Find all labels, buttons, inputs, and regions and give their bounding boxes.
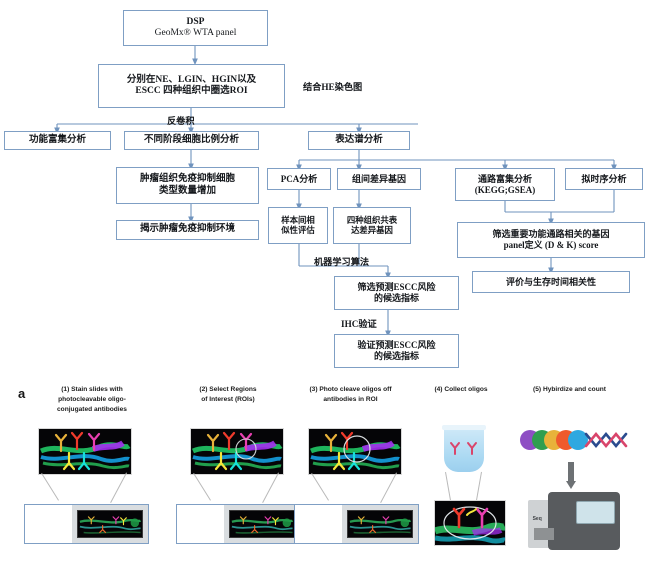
panel-letter-a: a [18, 386, 25, 401]
sequencer-label: Seq [533, 516, 542, 522]
node-pseudotime-label: 拟时序分析 [581, 174, 626, 185]
node-pathway-line2: (KEGG;GSEA) [475, 185, 536, 196]
step-5-down-arrow-icon [568, 462, 574, 482]
edge-label-he: 结合HE染色图 [303, 79, 362, 93]
step-3-leader-left [311, 473, 329, 501]
step-1-caption-line2: photocleavable oligo- [36, 395, 148, 405]
node-roi: 分别在NE、LGIN、HGIN以及 ESCC 四种组织中圈选ROI [98, 64, 285, 108]
geomx-workflow-panel: a (1) Stain slides with photocleavable o… [0, 380, 650, 567]
edge-label-ihc: IHC验证 [341, 316, 377, 330]
node-reveal-microenvironment: 揭示肿瘤免疫抑制环境 [116, 220, 259, 240]
node-screen-line1: 筛选预测ESCC风险 [357, 282, 435, 293]
node-cell-proportion: 不同阶段细胞比例分析 [124, 131, 259, 150]
step-4-leader-left [445, 472, 451, 502]
step-2-slide-tissue [229, 510, 295, 537]
node-dsp-subtitle: GeoMx® WTA panel [155, 28, 237, 39]
step-4-caption: (4) Collect oligos [421, 385, 501, 395]
step-1-caption-line1: (1) Stain slides with [36, 385, 148, 395]
step-2-tissue-image [190, 428, 284, 475]
node-pathway-line1: 通路富集分析 [478, 174, 532, 185]
tissue-fluorescence-3 [309, 429, 401, 474]
step-1-leader-right [110, 473, 127, 503]
step-5-caption-line1: (5) Hybirdize and count [512, 385, 627, 395]
node-gene-panel-line1: 筛选重要功能通路相关的基因 [492, 229, 609, 240]
node-screen-escc-risk: 筛选预测ESCC风险 的候选指标 [334, 276, 459, 310]
node-tumor-immunosuppressive-cells: 肿瘤组织免疫抑制细胞 类型数量增加 [116, 167, 259, 204]
node-sample-similarity-line1: 样本间相 [281, 216, 315, 226]
sequencer-screen [576, 501, 615, 524]
node-pathway-enrichment: 通路富集分析 (KEGG;GSEA) [455, 168, 555, 201]
node-validate-escc-risk: 验证预测ESCC风险 的候选指标 [334, 334, 459, 368]
step-2-caption-line2: of Interest (ROIs) [172, 395, 284, 405]
slide-tissue-2 [230, 511, 294, 536]
node-validate-line2: 的候选指标 [374, 351, 419, 362]
node-dsp: DSP GeoMx® WTA panel [123, 10, 268, 46]
step-2-slide [176, 504, 301, 544]
step-1-caption: (1) Stain slides with photocleavable oli… [36, 385, 148, 416]
node-degs: 组间差异基因 [337, 168, 421, 190]
step-4-roi-closeup [434, 500, 506, 546]
sequencer-slot [534, 528, 554, 540]
step-2-caption-line1: (2) Select Regions [172, 385, 284, 395]
step-3-caption: (3) Photo cleave oligos off antibodies i… [288, 385, 413, 405]
slide-tissue-3 [348, 511, 412, 536]
node-sample-similarity: 样本间相 似性评估 [268, 207, 328, 244]
node-gene-panel-definition: 筛选重要功能通路相关的基因 panel定义 (D & K) score [457, 222, 645, 258]
tissue-fluorescence-1 [39, 429, 131, 474]
node-tumor-line1: 肿瘤组织免疫抑制细胞 [140, 174, 235, 185]
node-co-expressed-line1: 四种组织共表 [347, 216, 397, 226]
step-2-leader-right [262, 473, 279, 503]
step-2-leader-left [193, 473, 211, 501]
node-validate-line1: 验证预测ESCC风险 [357, 340, 435, 351]
node-functional-enrichment: 功能富集分析 [4, 131, 111, 150]
node-survival-label: 评价与生存时间相关性 [506, 277, 596, 288]
step-3-caption-line1: (3) Photo cleave oligos off [288, 385, 413, 395]
node-sample-similarity-line2: 似性评估 [281, 226, 315, 236]
roi-closeup-image [435, 501, 505, 545]
step-3-caption-line2: antibodies in ROI [288, 395, 413, 405]
step-4-caption-line1: (4) Collect oligos [421, 385, 501, 395]
node-roi-line1: 分别在NE、LGIN、HGIN以及 [127, 75, 256, 86]
node-tumor-line2: 类型数量增加 [159, 186, 216, 197]
step-3-slide [294, 504, 419, 544]
step-5-barcode-dna-icon [516, 424, 636, 458]
node-reveal-label: 揭示肿瘤免疫抑制环境 [140, 224, 235, 235]
flowchart-diagram: DSP GeoMx® WTA panel 分别在NE、LGIN、HGIN以及 E… [0, 0, 650, 380]
edge-label-deconvolution: 反卷积 [167, 113, 195, 127]
node-degs-label: 组间差异基因 [352, 174, 406, 185]
step-5-sequencer: Seq [528, 492, 620, 550]
slide-tissue-1 [78, 511, 142, 536]
node-screen-line2: 的候选指标 [374, 293, 419, 304]
node-pca-label: PCA分析 [281, 174, 318, 185]
step-4-beaker [444, 428, 484, 472]
node-pseudotime: 拟时序分析 [565, 168, 643, 190]
step-1-tissue-image [38, 428, 132, 475]
step-3-slide-tissue [347, 510, 413, 537]
node-gene-panel-line2: panel定义 (D & K) score [504, 240, 599, 251]
step-5-caption: (5) Hybirdize and count [512, 385, 627, 395]
edge-label-ml-algorithm: 机器学习算法 [314, 254, 369, 268]
tissue-fluorescence-2 [191, 429, 283, 474]
step-3-tissue-image [308, 428, 402, 475]
node-co-expressed-degs: 四种组织共表 达差异基因 [333, 207, 411, 244]
step-1-leader-left [41, 473, 59, 501]
node-roi-line2: ESCC 四种组织中圈选ROI [135, 86, 247, 97]
node-expression-profile-label: 表达谱分析 [335, 135, 383, 146]
node-dsp-title: DSP [187, 17, 205, 28]
step-1-slide-tissue [77, 510, 143, 537]
step-1-caption-line3: conjugated antibodies [36, 405, 148, 415]
step-4-leader-right [475, 472, 482, 504]
node-cell-proportion-label: 不同阶段细胞比例分析 [144, 135, 239, 146]
node-expression-profile: 表达谱分析 [308, 131, 410, 150]
node-pca: PCA分析 [267, 168, 331, 190]
step-3-leader-right [380, 473, 397, 503]
node-co-expressed-line2: 达差异基因 [351, 226, 393, 236]
node-survival-correlation: 评价与生存时间相关性 [472, 271, 630, 293]
step-2-caption: (2) Select Regions of Interest (ROIs) [172, 385, 284, 405]
node-functional-enrichment-label: 功能富集分析 [29, 135, 86, 146]
beaker-antibody-icons [444, 428, 484, 472]
step-1-slide [24, 504, 149, 544]
